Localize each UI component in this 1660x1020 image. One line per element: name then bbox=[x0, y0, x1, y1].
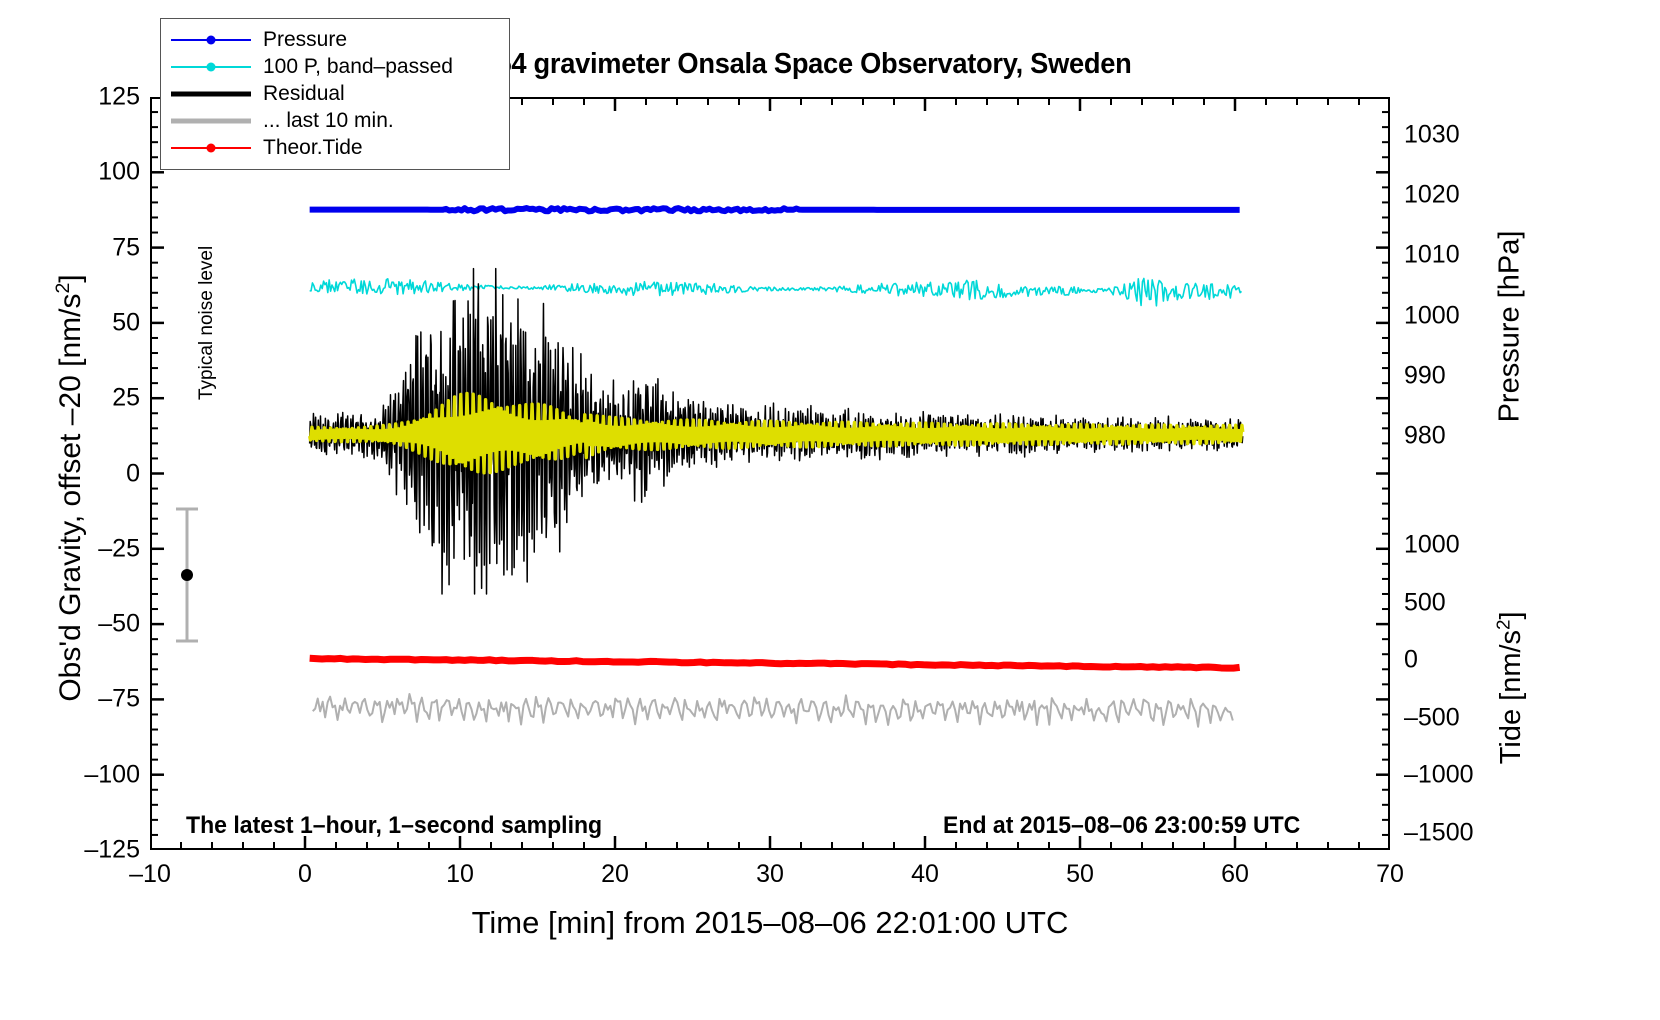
tide-tick-label: 1000 bbox=[1404, 531, 1460, 560]
x-tick-label: 70 bbox=[1376, 860, 1404, 889]
trace-residual-lowpass bbox=[310, 393, 1243, 472]
legend-item-2: Residual bbox=[171, 80, 499, 107]
chart-root: SCG_054 gravimeter Onsala Space Observat… bbox=[0, 0, 1660, 1020]
data-traces bbox=[150, 97, 1390, 850]
legend-item-0: Pressure bbox=[171, 26, 499, 53]
series-layer bbox=[310, 208, 1243, 727]
legend-swatch bbox=[171, 138, 251, 158]
pressure-tick-label: 990 bbox=[1404, 361, 1446, 390]
y-axis-title: Obs'd Gravity, offset –20 [nm/s2] bbox=[52, 108, 88, 868]
x-tick-label: 50 bbox=[1066, 860, 1094, 889]
tide-tick-label: 0 bbox=[1404, 646, 1418, 675]
x-axis-title: Time [min] from 2015–08–06 22:01:00 UTC bbox=[150, 905, 1390, 941]
x-tick-label: 30 bbox=[756, 860, 784, 889]
legend-item-4: Theor.Tide bbox=[171, 134, 499, 161]
trace-pressure bbox=[310, 208, 1240, 211]
legend-item-label: 100 P, band–passed bbox=[263, 55, 453, 79]
note-sampling: The latest 1–hour, 1–second sampling bbox=[186, 812, 602, 840]
legend-swatch bbox=[171, 111, 251, 131]
pressure-axis-title-text: Pressure [hPa] bbox=[1494, 231, 1526, 423]
legend-swatch bbox=[171, 84, 251, 104]
trace-last-10-min bbox=[313, 694, 1233, 727]
x-tick-label: 0 bbox=[298, 860, 312, 889]
x-tick-label: –10 bbox=[129, 860, 171, 889]
tide-axis-title: Tide [nm/s2] bbox=[1492, 553, 1528, 823]
legend-item-label: Pressure bbox=[263, 28, 347, 52]
x-axis-labels: –10010203040506070 bbox=[0, 860, 1660, 896]
legend: Pressure100 P, band–passedResidual... la… bbox=[160, 18, 510, 170]
pressure-tick-label: 980 bbox=[1404, 422, 1446, 451]
pressure-tick-label: 1020 bbox=[1404, 181, 1460, 210]
pressure-tick-label: 1000 bbox=[1404, 301, 1460, 330]
legend-dot-icon bbox=[207, 143, 216, 152]
tide-tick-label: –1500 bbox=[1404, 819, 1474, 848]
typical-noise-errorbar bbox=[176, 509, 198, 641]
x-tick-label: 40 bbox=[911, 860, 939, 889]
tide-tick-label: –1000 bbox=[1404, 761, 1474, 790]
pressure-tick-label: 1030 bbox=[1404, 121, 1460, 150]
legend-item-label: Theor.Tide bbox=[263, 136, 363, 160]
legend-item-label: Residual bbox=[263, 82, 345, 106]
typical-noise-label: Typical noise level bbox=[196, 210, 218, 400]
legend-swatch bbox=[171, 57, 251, 77]
tide-tick-label: 500 bbox=[1404, 588, 1446, 617]
x-tick-label: 60 bbox=[1221, 860, 1249, 889]
pressure-axis-title: Pressure [hPa] bbox=[1494, 177, 1527, 477]
tide-axis-title-text: Tide [nm/s2] bbox=[1495, 611, 1527, 764]
tide-tick-label: –500 bbox=[1404, 703, 1460, 732]
legend-line-icon bbox=[171, 91, 251, 96]
note-end-time: End at 2015–08–06 23:00:59 UTC bbox=[943, 812, 1300, 840]
legend-item-1: 100 P, band–passed bbox=[171, 53, 499, 80]
legend-item-label: ... last 10 min. bbox=[263, 109, 394, 133]
x-tick-label: 20 bbox=[601, 860, 629, 889]
pressure-tick-label: 1010 bbox=[1404, 241, 1460, 270]
y-axis-title-text: Obs'd Gravity, offset –20 [nm/s2] bbox=[54, 274, 87, 701]
legend-dot-icon bbox=[207, 35, 216, 44]
legend-dot-icon bbox=[207, 62, 216, 71]
legend-line-icon bbox=[171, 118, 251, 123]
x-tick-label: 10 bbox=[446, 860, 474, 889]
trace-band-passed bbox=[310, 279, 1242, 306]
legend-item-3: ... last 10 min. bbox=[171, 107, 499, 134]
legend-swatch bbox=[171, 30, 251, 50]
trace-theor-tide bbox=[310, 658, 1240, 668]
